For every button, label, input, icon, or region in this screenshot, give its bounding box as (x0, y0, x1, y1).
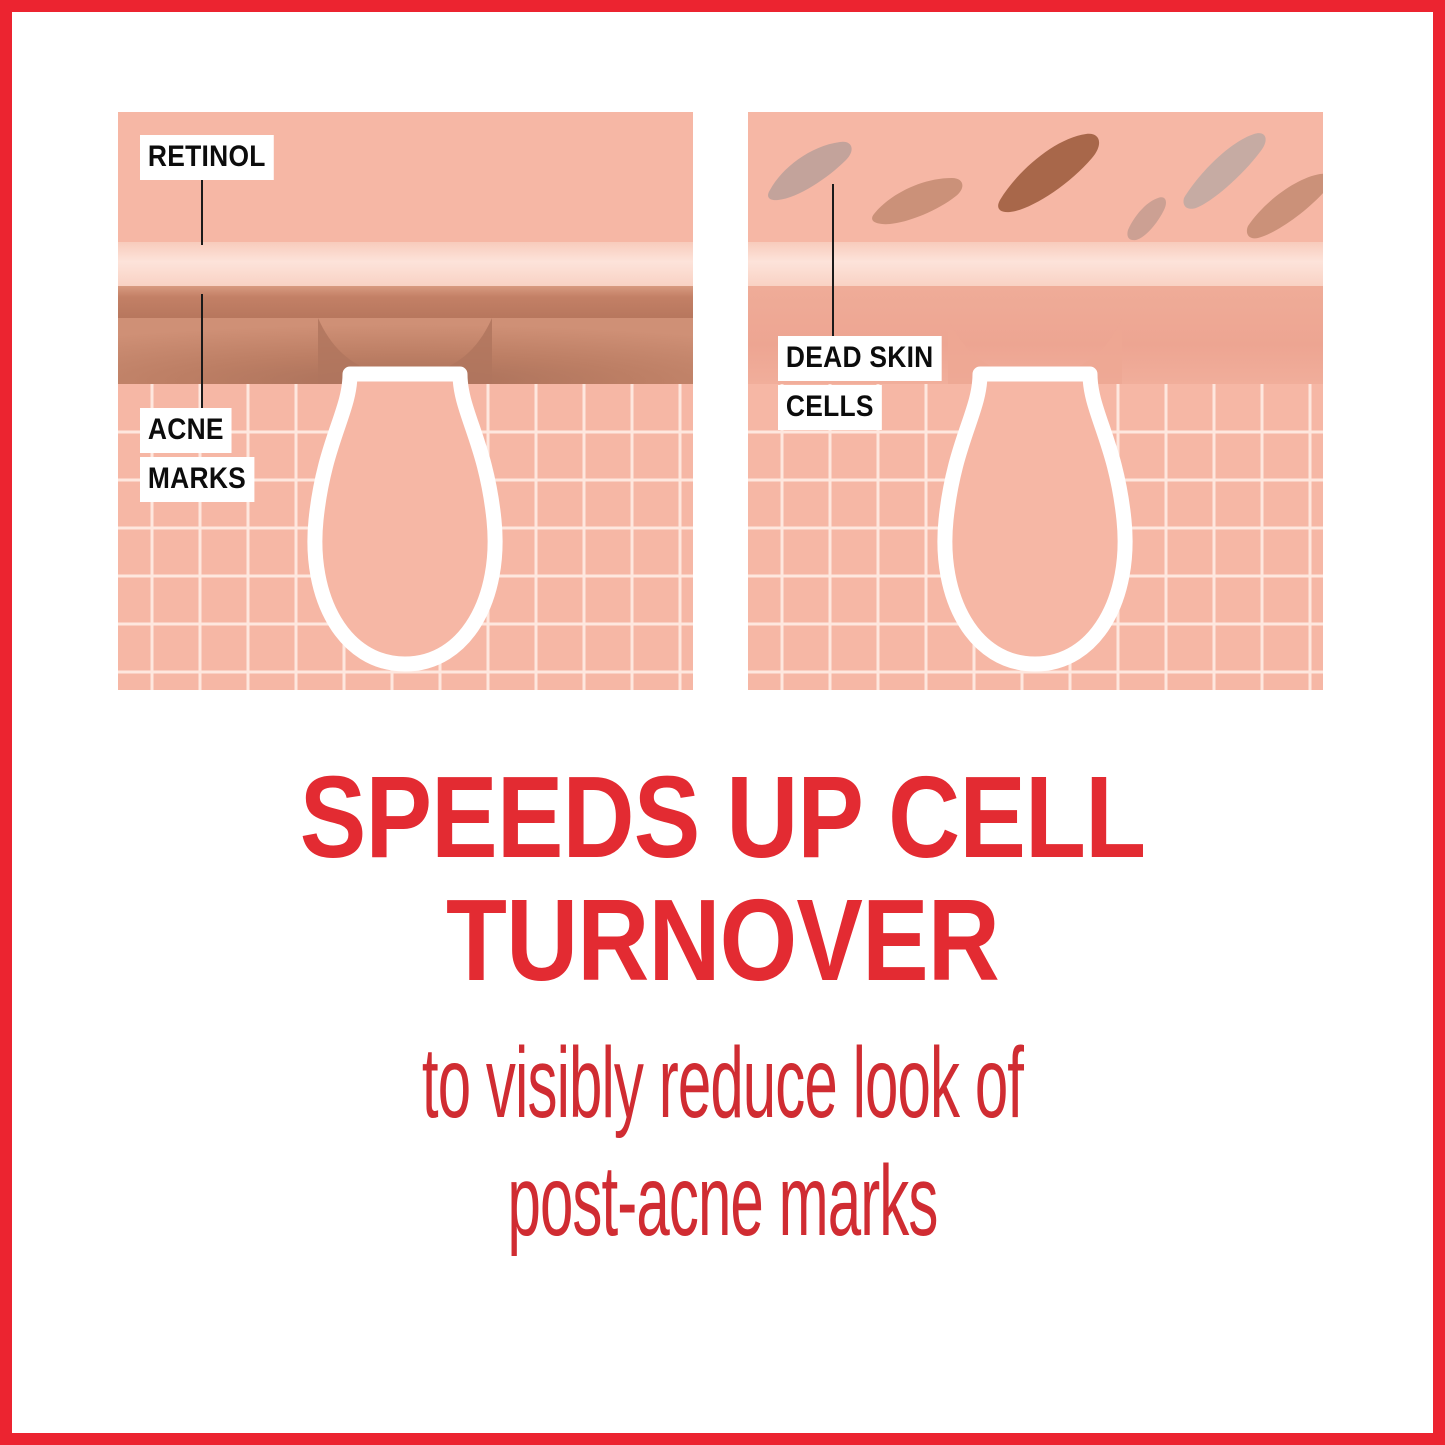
retinol-label-text: RETINOL (148, 140, 266, 173)
retinol-leader-line (201, 175, 203, 245)
subheadline: to visibly reduce look of post-acne mark… (289, 1024, 1156, 1260)
headline: SPEEDS UP CELL TURNOVER (101, 756, 1344, 1002)
acne-marks-leader-line (201, 294, 203, 412)
retinol-label: RETINOL (140, 135, 274, 180)
acne-marks-label-text-1: ACNE (148, 413, 224, 446)
subheadline-line-1: to visibly reduce look of (289, 1024, 1156, 1142)
pale-band-layer (118, 242, 693, 286)
dead-skin-cells-label-line2: CELLS (778, 385, 882, 430)
copy-block: SPEEDS UP CELL TURNOVER to visibly reduc… (0, 756, 1445, 1260)
dead-skin-cells-label-text-1: DEAD SKIN (786, 341, 934, 374)
dead-skin-cells-label-line1: DEAD SKIN (778, 336, 941, 381)
subheadline-line-2: post-acne marks (289, 1142, 1156, 1260)
pigment-band-upper (118, 286, 693, 322)
dead-skin-cells-label-text-2: CELLS (786, 390, 874, 423)
pore-follicle (945, 374, 1125, 664)
infographic-page: RETINOL ACNE MARKS (0, 0, 1445, 1445)
retinol-acne-marks-panel: RETINOL ACNE MARKS (118, 112, 693, 690)
dead-skin-cells-leader-line (832, 184, 834, 340)
acne-marks-label-line2: MARKS (140, 457, 254, 502)
acne-marks-label-text-2: MARKS (148, 462, 246, 495)
headline-line-2: TURNOVER (101, 879, 1344, 1002)
headline-line-1: SPEEDS UP CELL (101, 756, 1344, 879)
dead-skin-cells-panel: DEAD SKIN CELLS (748, 112, 1323, 690)
acne-marks-label-line1: ACNE (140, 408, 232, 453)
before-cross-section-svg (118, 112, 693, 690)
pale-band-layer (748, 242, 1323, 286)
diagram-panels: RETINOL ACNE MARKS (118, 112, 1328, 690)
pore-follicle (315, 374, 495, 664)
